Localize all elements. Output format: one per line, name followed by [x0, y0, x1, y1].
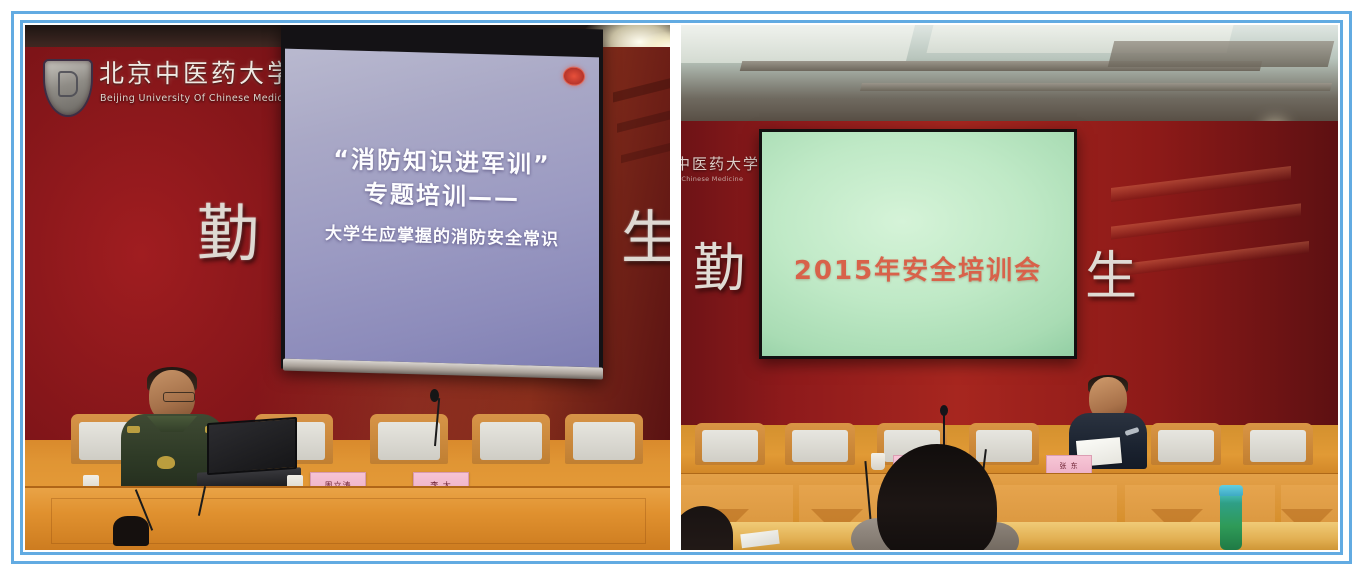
wall-calligraphy-char: 勤 [197, 203, 259, 265]
chair [785, 423, 855, 465]
dark-equipment-shadow [113, 516, 149, 546]
audience-front-attendee [877, 438, 997, 550]
ceiling-panel [681, 25, 916, 63]
chair [695, 423, 765, 465]
speaker-glasses-icon [163, 392, 195, 402]
shoulder-insignia-icon [127, 426, 140, 433]
slide-text-block: “消防知识进军训” 专题培训—— 大学生应掌握的消防安全常识 [285, 141, 599, 257]
speaker-police-officer [1069, 377, 1147, 463]
photo-right-2015-safety-meeting[interactable]: 中医药大学 Of Chinese Medicine 勤 生 2015年安全培训会 [681, 25, 1338, 550]
chair [1151, 423, 1221, 465]
university-name-cn: 中医药大学 [681, 153, 760, 174]
wall-calligraphy-char: 生 [1085, 251, 1137, 303]
university-shield-icon [43, 59, 93, 117]
chair [1243, 423, 1313, 465]
cap-badge-icon [157, 456, 175, 469]
wall-calligraphy-char: 勤 [693, 243, 745, 295]
projection-screen-surface: 2015年安全培训会 [762, 132, 1074, 356]
water-bottle [1220, 490, 1242, 550]
laptop-screen [207, 417, 297, 475]
university-logo-block: 北京中医药大学 Beijing University Of Chinese Me… [43, 55, 291, 123]
university-name-en: Beijing University Of Chinese Medicine [100, 93, 299, 104]
attendee-hair [681, 506, 733, 550]
slide-line-1: 2015年安全培训会 [762, 250, 1074, 287]
projection-screen-frame: “消防知识进军训” 专题培训—— 大学生应掌握的消防安全常识 [281, 25, 603, 377]
university-name-cn: 北京中医药大学 [99, 59, 295, 89]
chair [565, 414, 643, 464]
slide-corner-logo-icon [563, 66, 585, 86]
microphone-head-icon [940, 405, 948, 416]
name-card-text: 张 东 [1059, 461, 1078, 471]
wall-calligraphy-char: 生 [621, 207, 670, 269]
attendee-hair [877, 444, 997, 550]
water-bottle-cap [1219, 485, 1243, 496]
ceiling-beam [1108, 41, 1334, 67]
ceiling-beam [860, 83, 1332, 91]
projection-screen-frame: 2015年安全培训会 [759, 129, 1077, 359]
slide-line-3: 大学生应掌握的消防安全常识 [285, 218, 599, 257]
photo-left-fire-safety-training[interactable]: 北京中医药大学 Beijing University Of Chinese Me… [25, 25, 670, 550]
projection-screen-surface: “消防知识进军训” 专题培训—— 大学生应掌握的消防安全常识 [285, 49, 599, 368]
photo-gallery-strip: 北京中医药大学 Beijing University Of Chinese Me… [25, 25, 1338, 550]
university-name-en: Of Chinese Medicine [681, 175, 743, 183]
audience-side-attendee [681, 498, 747, 550]
chair [472, 414, 550, 464]
microphone-head-icon [430, 389, 439, 402]
